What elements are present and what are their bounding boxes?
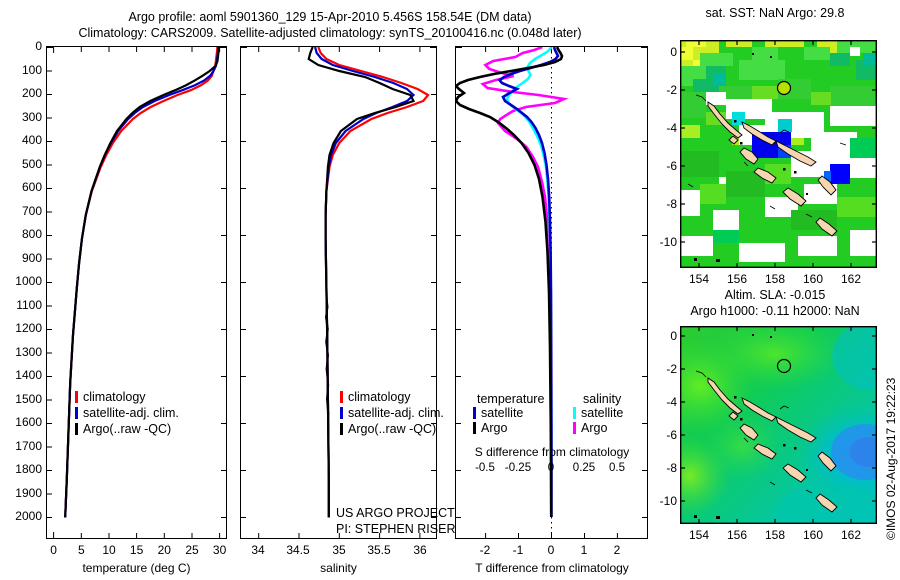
temperature-ytick-200: 200: [0, 86, 42, 100]
sst-xtick-158: 158: [760, 272, 790, 286]
temperature-xtick-0: 0: [44, 543, 64, 557]
sst-ytick--2: -2: [656, 83, 677, 97]
salinity-xtick-35.5: 35.5: [363, 543, 395, 557]
temperature-xtick-30: 30: [210, 543, 230, 557]
temperature-series-climatology: [65, 47, 217, 518]
project-note-line2: PI: STEPHEN RISER: [336, 522, 455, 536]
sst-ytick-0: 0: [656, 45, 677, 59]
legend-item-temperature-satellite: satellite: [473, 406, 561, 420]
temperature-profile-panel: 0 100 200 300 400 500 600 700 800 900 10…: [0, 40, 240, 540]
sla-map-canvas[interactable]: [680, 326, 877, 524]
difference-s-xtick-0.5: 0.5: [595, 462, 639, 474]
difference-t-xtick--2: -2: [470, 543, 500, 557]
salinity-axis-label: salinity: [240, 561, 437, 575]
temperature-ytick-300: 300: [0, 110, 42, 124]
temperature-plot-canvas: [47, 47, 226, 538]
sst-xtick-156: 156: [722, 272, 752, 286]
salinity-xtick-34: 34: [242, 543, 274, 557]
sst-ytick--6: -6: [656, 159, 677, 173]
difference-t-xtick-2: 2: [602, 543, 632, 557]
temperature-ytick-900: 900: [0, 251, 42, 265]
sla-ytick--6: -6: [656, 428, 677, 442]
difference-profile-panel: -0.5 -0.25 0 0.25 0.5 S difference from …: [455, 40, 660, 540]
legend-label-argo: Argo(..raw -QC): [83, 422, 171, 436]
legend-swatch-climatology: [340, 391, 343, 403]
project-note-line1: US ARGO PROJECT: [336, 506, 455, 520]
sla-xtick-158: 158: [760, 528, 790, 542]
legend-label-satellite-adj: satellite-adj. clim.: [348, 406, 444, 420]
page-title-line2: Climatology: CARS2009. Satellite-adjuste…: [0, 26, 660, 40]
difference-t-xtick-1: 1: [569, 543, 599, 557]
sla-ytick--8: -8: [656, 461, 677, 475]
sla-xtick-154: 154: [684, 528, 714, 542]
sst-map-panel: sat. SST: NaN Argo: 29.8: [660, 6, 890, 286]
legend-item-temperature-argo: Argo: [473, 421, 561, 435]
sla-ytick--10: -10: [652, 494, 677, 508]
temperature-ytick-2000: 2000: [0, 509, 42, 523]
legend-item-climatology: climatology: [340, 390, 444, 404]
legend-swatch-temperature-argo: [473, 422, 476, 434]
copyright-text: ©IMOS 02-Aug-2017 19:22:23: [884, 540, 900, 554]
difference-legend-group-temperature: temperature: [477, 392, 561, 406]
temperature-ytick-1300: 1300: [0, 345, 42, 359]
difference-t-xtick-0: 0: [536, 543, 566, 557]
temperature-ytick-1500: 1500: [0, 392, 42, 406]
temperature-xtick-20: 20: [154, 543, 174, 557]
salinity-legend: climatology satellite-adj. clim. Argo(..…: [340, 390, 444, 436]
temperature-series-argo: [65, 47, 218, 518]
temperature-xtick-15: 15: [127, 543, 147, 557]
legend-swatch-temperature-satellite: [473, 407, 476, 419]
legend-label-temperature-argo: Argo: [481, 421, 507, 435]
sst-xtick-162: 162: [836, 272, 866, 286]
sla-map-title-line1: Altim. SLA: -0.015: [660, 288, 890, 302]
salinity-xtick-35: 35: [323, 543, 355, 557]
temperature-ytick-1900: 1900: [0, 486, 42, 500]
legend-item-salinity-satellite: satellite: [573, 406, 653, 420]
sla-ytick--4: -4: [656, 395, 677, 409]
temperature-series-satellite-adj: [65, 47, 218, 518]
legend-label-temperature-satellite: satellite: [481, 406, 523, 420]
legend-item-argo: Argo(..raw -QC): [75, 422, 179, 436]
difference-legend-column-temperature: temperature satellite Argo: [473, 392, 561, 435]
temperature-ytick-1000: 1000: [0, 274, 42, 288]
sla-map-panel: Altim. SLA: -0.015 Argo h1000: -0.11 h20…: [660, 288, 890, 578]
temperature-ytick-1600: 1600: [0, 415, 42, 429]
sst-map-title: sat. SST: NaN Argo: 29.8: [660, 6, 890, 20]
legend-item-salinity-argo: Argo: [573, 421, 653, 435]
sst-ytick--10: -10: [652, 235, 677, 249]
difference-s-axis-label: S difference from climatology: [452, 445, 652, 459]
difference-legend-column-salinity: salinity satellite Argo: [573, 392, 653, 435]
temperature-ytick-500: 500: [0, 157, 42, 171]
temperature-ytick-0: 0: [0, 39, 42, 53]
sla-ytick-0: 0: [656, 329, 677, 343]
sst-ytick--4: -4: [656, 121, 677, 135]
sla-xtick-160: 160: [798, 528, 828, 542]
temperature-xtick-25: 25: [182, 543, 202, 557]
salinity-series-climatology: [318, 47, 428, 518]
sla-xtick-162: 162: [836, 528, 866, 542]
legend-label-salinity-argo: Argo: [581, 421, 607, 435]
sla-xtick-156: 156: [722, 528, 752, 542]
temperature-ytick-100: 100: [0, 63, 42, 77]
difference-t-xtick--1: -1: [503, 543, 533, 557]
temperature-legend: climatology satellite-adj. clim. Argo(..…: [75, 390, 179, 436]
salinity-profile-panel: 34 34.5 35 35.5 36 salinity climatology …: [240, 40, 455, 540]
sla-map-title-line2: Argo h1000: -0.11 h2000: NaN: [660, 304, 890, 318]
temperature-ytick-700: 700: [0, 204, 42, 218]
temperature-ytick-800: 800: [0, 227, 42, 241]
legend-swatch-climatology: [75, 391, 78, 403]
argo-position-marker: [778, 82, 791, 95]
legend-swatch-argo: [75, 423, 78, 435]
legend-swatch-satellite-adj: [75, 407, 78, 419]
copyright-label: ©IMOS 02-Aug-2017 19:22:23: [884, 378, 898, 540]
salinity-xtick-34.5: 34.5: [282, 543, 314, 557]
temperature-ytick-1700: 1700: [0, 439, 42, 453]
salinity-xtick-36: 36: [404, 543, 436, 557]
legend-label-argo: Argo(..raw -QC): [348, 422, 436, 436]
temperature-xtick-10: 10: [99, 543, 119, 557]
legend-label-climatology: climatology: [83, 390, 146, 404]
page-title-line1: Argo profile: aoml 5901360_129 15-Apr-20…: [0, 10, 660, 24]
temperature-ytick-400: 400: [0, 133, 42, 147]
legend-swatch-satellite-adj: [340, 407, 343, 419]
temperature-xtick-5: 5: [71, 543, 91, 557]
temperature-ytick-1100: 1100: [0, 298, 42, 312]
temperature-axis-label: temperature (deg C): [46, 561, 227, 575]
legend-item-climatology: climatology: [75, 390, 179, 404]
salinity-series-argo: [309, 47, 414, 518]
sst-ytick--8: -8: [656, 197, 677, 211]
legend-swatch-salinity-satellite: [573, 407, 576, 419]
difference-legend-group-salinity: salinity: [583, 392, 653, 406]
difference-t-axis-label: T difference from climatology: [452, 561, 652, 575]
legend-swatch-argo: [340, 423, 343, 435]
temperature-ytick-1400: 1400: [0, 368, 42, 382]
legend-item-argo: Argo(..raw -QC): [340, 422, 444, 436]
sst-xtick-154: 154: [684, 272, 714, 286]
legend-item-satellite-adj: satellite-adj. clim.: [75, 406, 179, 420]
difference-legend: temperature satellite Argo salinity sate…: [473, 392, 653, 435]
salinity-plot-canvas: [241, 47, 436, 538]
sst-xtick-160: 160: [798, 272, 828, 286]
legend-label-climatology: climatology: [348, 390, 411, 404]
temperature-ytick-600: 600: [0, 180, 42, 194]
temperature-ytick-1800: 1800: [0, 462, 42, 476]
legend-label-salinity-satellite: satellite: [581, 406, 623, 420]
sst-map-canvas[interactable]: [680, 40, 877, 268]
legend-item-satellite-adj: satellite-adj. clim.: [340, 406, 444, 420]
temperature-ytick-1200: 1200: [0, 321, 42, 335]
legend-label-satellite-adj: satellite-adj. clim.: [83, 406, 179, 420]
legend-swatch-salinity-argo: [573, 422, 576, 434]
sla-ytick--2: -2: [656, 362, 677, 376]
